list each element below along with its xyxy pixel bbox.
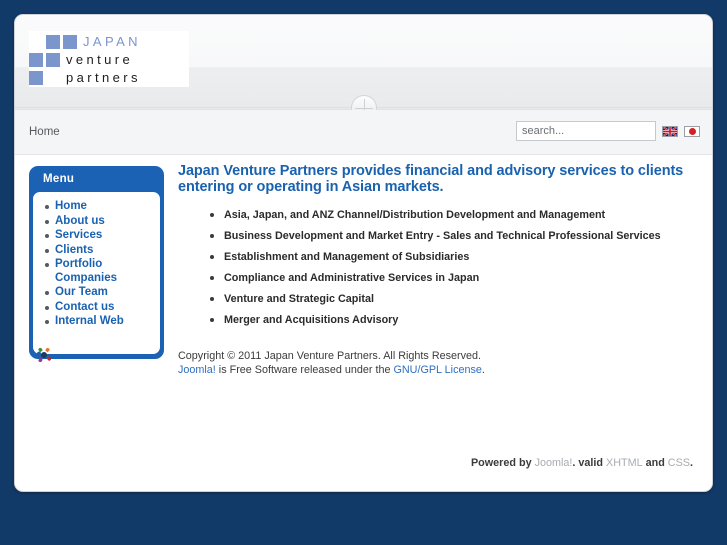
and-label: and	[643, 457, 668, 469]
page-title: Japan Venture Partners provides financia…	[178, 164, 694, 195]
copyright-line-2: Joomla! is Free Software released under …	[178, 363, 694, 377]
list-item: Establishment and Management of Subsidia…	[224, 251, 694, 263]
breadcrumb: Home	[29, 126, 60, 138]
sidebar-item-portfolio-companies[interactable]: Portfolio Companies	[55, 258, 160, 285]
menu-item[interactable]: Clients	[55, 244, 160, 258]
sidebar-item-home[interactable]: Home	[55, 200, 87, 214]
sidebar-item-our-team[interactable]: Our Team	[55, 286, 108, 300]
list-item: Business Development and Market Entry - …	[224, 230, 694, 242]
logo-text-partners: partners	[66, 71, 141, 84]
valid-label: . valid	[572, 457, 606, 469]
copyright-block: Copyright © 2011 Japan Venture Partners.…	[178, 349, 694, 377]
copyright-line-1: Copyright © 2011 Japan Venture Partners.…	[178, 349, 694, 363]
logo-square-icon	[46, 35, 60, 49]
logo-row-1: JAPAN	[29, 33, 189, 50]
list-item: Venture and Strategic Capital	[224, 293, 694, 305]
article: Japan Venture Partners provides financia…	[178, 164, 694, 335]
japan-flag-icon[interactable]	[684, 126, 700, 137]
logo-row-2: venture	[29, 51, 189, 68]
powered-by-label: Powered by	[471, 457, 535, 469]
sidebar-item-about-us[interactable]: About us	[55, 215, 105, 229]
logo-row-3: partners	[29, 69, 189, 86]
copyright-end-text: .	[482, 364, 485, 376]
japan-flag-disc	[689, 128, 696, 135]
list-item: Asia, Japan, and ANZ Channel/Distributio…	[224, 209, 694, 221]
main-content: Menu Home About us Services Clients Port…	[15, 155, 712, 492]
menu-body: Home About us Services Clients Portfolio…	[33, 192, 160, 354]
sidebar-item-contact-us[interactable]: Contact us	[55, 301, 114, 315]
menu-module: Menu Home About us Services Clients Port…	[29, 166, 164, 359]
menu-item[interactable]: Contact us	[55, 301, 160, 315]
menu-item[interactable]: Portfolio Companies	[55, 258, 160, 285]
logo-square-icon	[29, 71, 43, 85]
menu-title: Menu	[29, 166, 164, 192]
menu-item[interactable]: Home	[55, 200, 160, 214]
gnu-gpl-license-link[interactable]: GNU/GPL License	[393, 364, 481, 376]
joomla-pinwheel-icon	[35, 346, 53, 364]
list-item: Compliance and Administrative Services i…	[224, 272, 694, 284]
copyright-mid-text: is Free Software released under the	[216, 364, 394, 376]
menu-item[interactable]: Our Team	[55, 286, 160, 300]
menu-item[interactable]: About us	[55, 215, 160, 229]
list-item: Merger and Acquisitions Advisory	[224, 314, 694, 326]
page-panel: JAPAN venture partners Home	[14, 14, 713, 492]
logo-square-spacer	[46, 71, 60, 85]
sidebar-item-clients[interactable]: Clients	[55, 244, 93, 258]
logo-square-icon	[29, 53, 43, 67]
logo-text-japan: JAPAN	[83, 35, 141, 48]
css-link[interactable]: CSS	[668, 457, 690, 469]
menu-list: Home About us Services Clients Portfolio…	[33, 200, 160, 329]
logo-square-spacer	[29, 35, 43, 49]
footer-joomla-link[interactable]: Joomla!	[535, 457, 573, 469]
sidebar-item-services[interactable]: Services	[55, 229, 102, 243]
uk-flag-icon[interactable]	[662, 126, 678, 137]
site-footer: Powered by Joomla!. valid XHTML and CSS.	[14, 457, 713, 469]
joomla-link[interactable]: Joomla!	[178, 364, 216, 376]
sidebar-item-internal-web[interactable]: Internal Web	[55, 315, 124, 329]
nav-bar: Home	[15, 110, 712, 155]
services-list: Asia, Japan, and ANZ Channel/Distributio…	[178, 209, 694, 326]
xhtml-link[interactable]: XHTML	[606, 457, 643, 469]
menu-item[interactable]: Services	[55, 229, 160, 243]
logo-text-venture: venture	[66, 53, 133, 66]
site-header: JAPAN venture partners	[15, 15, 712, 110]
logo-square-icon	[46, 53, 60, 67]
logo-square-icon	[63, 35, 77, 49]
menu-item[interactable]: Internal Web	[55, 315, 160, 329]
search-input[interactable]	[516, 121, 656, 141]
footer-period: .	[690, 457, 693, 469]
search-area	[516, 121, 700, 141]
site-logo[interactable]: JAPAN venture partners	[29, 31, 189, 87]
